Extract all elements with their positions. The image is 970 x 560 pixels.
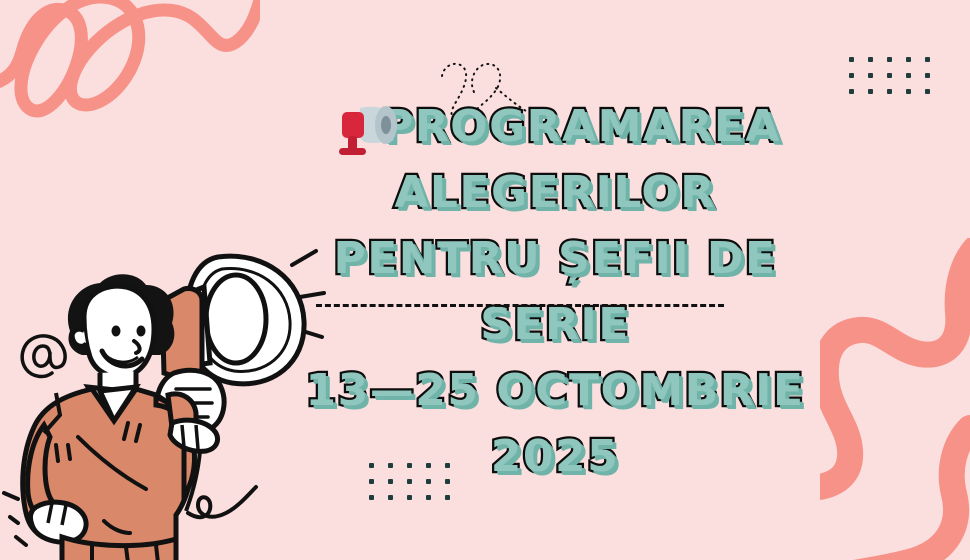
dot: [925, 89, 930, 94]
eye: [137, 326, 146, 337]
wavy-ribbon: [820, 238, 970, 560]
dot: [887, 73, 892, 78]
dashed-divider: [316, 304, 724, 307]
dot-grid-top-right: [849, 57, 930, 94]
dot: [887, 57, 892, 62]
dot: [925, 73, 930, 78]
dot: [906, 57, 911, 62]
megaphone-illustration: [162, 256, 304, 384]
cuff: [170, 420, 218, 451]
dot: [369, 495, 374, 500]
eye: [112, 326, 121, 337]
poster-canvas: PROGRAMAREA ALEGERILOR PENTRU ȘEFII DE S…: [0, 0, 970, 560]
person-with-megaphone-illustration: [0, 245, 326, 560]
dot: [445, 495, 450, 500]
dot: [849, 73, 854, 78]
dot: [388, 495, 393, 500]
dot: [426, 495, 431, 500]
dot: [849, 57, 854, 62]
headline-line-5: 13—25 OCTOMBRIE: [300, 358, 810, 424]
headline-line-4: SERIE: [300, 292, 810, 358]
headline-line-2: ALEGERILOR: [300, 160, 810, 226]
dot: [868, 73, 873, 78]
swirl-doodle: [188, 487, 256, 517]
dot: [849, 89, 854, 94]
megaphone-icon: [330, 100, 402, 158]
cuff-left: [30, 502, 86, 542]
headline-line-6: 2025: [300, 424, 810, 490]
dot: [868, 89, 873, 94]
dot: [906, 89, 911, 94]
dot: [407, 495, 412, 500]
dot: [925, 57, 930, 62]
dot: [906, 73, 911, 78]
headline-line-3: PENTRU ȘEFII DE: [300, 226, 810, 292]
at-symbol-icon: [18, 333, 70, 385]
squiggle-doodle: [0, 0, 260, 130]
dot: [868, 57, 873, 62]
dot: [887, 89, 892, 94]
